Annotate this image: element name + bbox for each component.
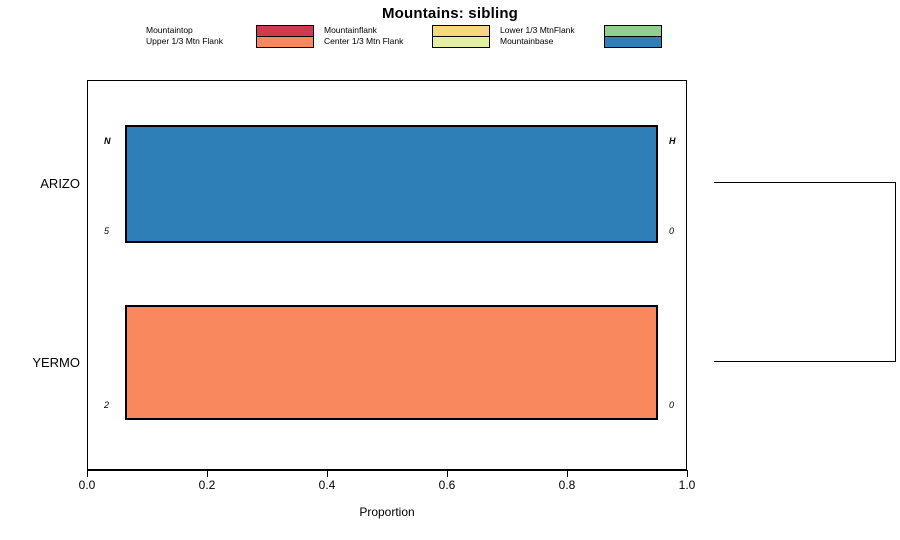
bar-arizo-top-left-label: N <box>104 136 111 146</box>
x-axis-tick-2 <box>327 470 328 477</box>
legend-item-label-center-third-mtn-flank: Center 1/3 Mtn Flank <box>324 36 428 47</box>
page-title: Mountains: sibling <box>0 5 900 22</box>
legend-column-2: Lower 1/3 MtnFlank Mountainbase <box>500 25 662 48</box>
legend-swatch-mountainflank <box>433 26 489 36</box>
x-axis-tick-label-5: 1.0 <box>679 478 696 492</box>
x-axis-title: Proportion <box>87 505 687 519</box>
bar-arizo-top-right-label: H <box>669 136 676 146</box>
legend-column-0-labels: Mountaintop Upper 1/3 Mtn Flank <box>146 25 252 47</box>
legend-column-0-swatches <box>256 25 314 48</box>
legend-column-1-swatches <box>432 25 490 48</box>
bar-yermo-upper-third-mtn-flank[interactable] <box>125 305 658 420</box>
x-axis-tick-4 <box>567 470 568 477</box>
legend-column-2-labels: Lower 1/3 MtnFlank Mountainbase <box>500 25 600 47</box>
bar-arizo-bottom-right-label: 0 <box>669 226 674 236</box>
legend-column-2-swatches <box>604 25 662 48</box>
legend-column-0: Mountaintop Upper 1/3 Mtn Flank <box>146 25 314 48</box>
legend-item-label-mountainflank: Mountainflank <box>324 25 428 36</box>
chart-canvas: Mountains: sibling Mountaintop Upper 1/3… <box>0 0 900 540</box>
legend-swatch-lower-third-mtn-flank <box>605 26 661 36</box>
legend-item-label-mountaintop: Mountaintop <box>146 25 252 36</box>
bar-arizo-bottom-left-label: 5 <box>104 226 109 236</box>
x-axis-tick-label-3: 0.6 <box>439 478 456 492</box>
legend-swatch-upper-third-mtn-flank <box>257 36 313 47</box>
bar-yermo-bottom-left-label: 2 <box>104 400 109 410</box>
x-axis-tick-label-0: 0.0 <box>79 478 96 492</box>
legend-column-1: Mountainflank Center 1/3 Mtn Flank <box>324 25 490 48</box>
y-axis-label-yermo: YERMO <box>0 355 80 370</box>
x-axis-tick-label-4: 0.8 <box>559 478 576 492</box>
legend: Mountaintop Upper 1/3 Mtn Flank Mountain… <box>146 25 672 48</box>
x-axis-tick-3 <box>447 470 448 477</box>
bar-arizo-mountainbase[interactable] <box>125 125 658 243</box>
legend-column-1-labels: Mountainflank Center 1/3 Mtn Flank <box>324 25 428 47</box>
side-panel-frame <box>714 182 896 362</box>
legend-item-label-upper-third-mtn-flank: Upper 1/3 Mtn Flank <box>146 36 252 47</box>
x-axis-tick-1 <box>207 470 208 477</box>
legend-item-label-lower-third-mtn-flank: Lower 1/3 MtnFlank <box>500 25 600 36</box>
bar-yermo-bottom-right-label: 0 <box>669 400 674 410</box>
x-axis-tick-label-1: 0.2 <box>199 478 216 492</box>
legend-swatch-mountaintop <box>257 26 313 36</box>
x-axis-line <box>87 470 687 471</box>
x-axis-tick-0 <box>87 470 88 477</box>
legend-swatch-mountainbase <box>605 36 661 47</box>
x-axis-tick-5 <box>687 470 688 477</box>
y-axis-label-arizo: ARIZO <box>0 176 80 191</box>
x-axis-tick-label-2: 0.4 <box>319 478 336 492</box>
legend-item-label-mountainbase: Mountainbase <box>500 36 600 47</box>
legend-swatch-center-third-mtn-flank <box>433 36 489 47</box>
